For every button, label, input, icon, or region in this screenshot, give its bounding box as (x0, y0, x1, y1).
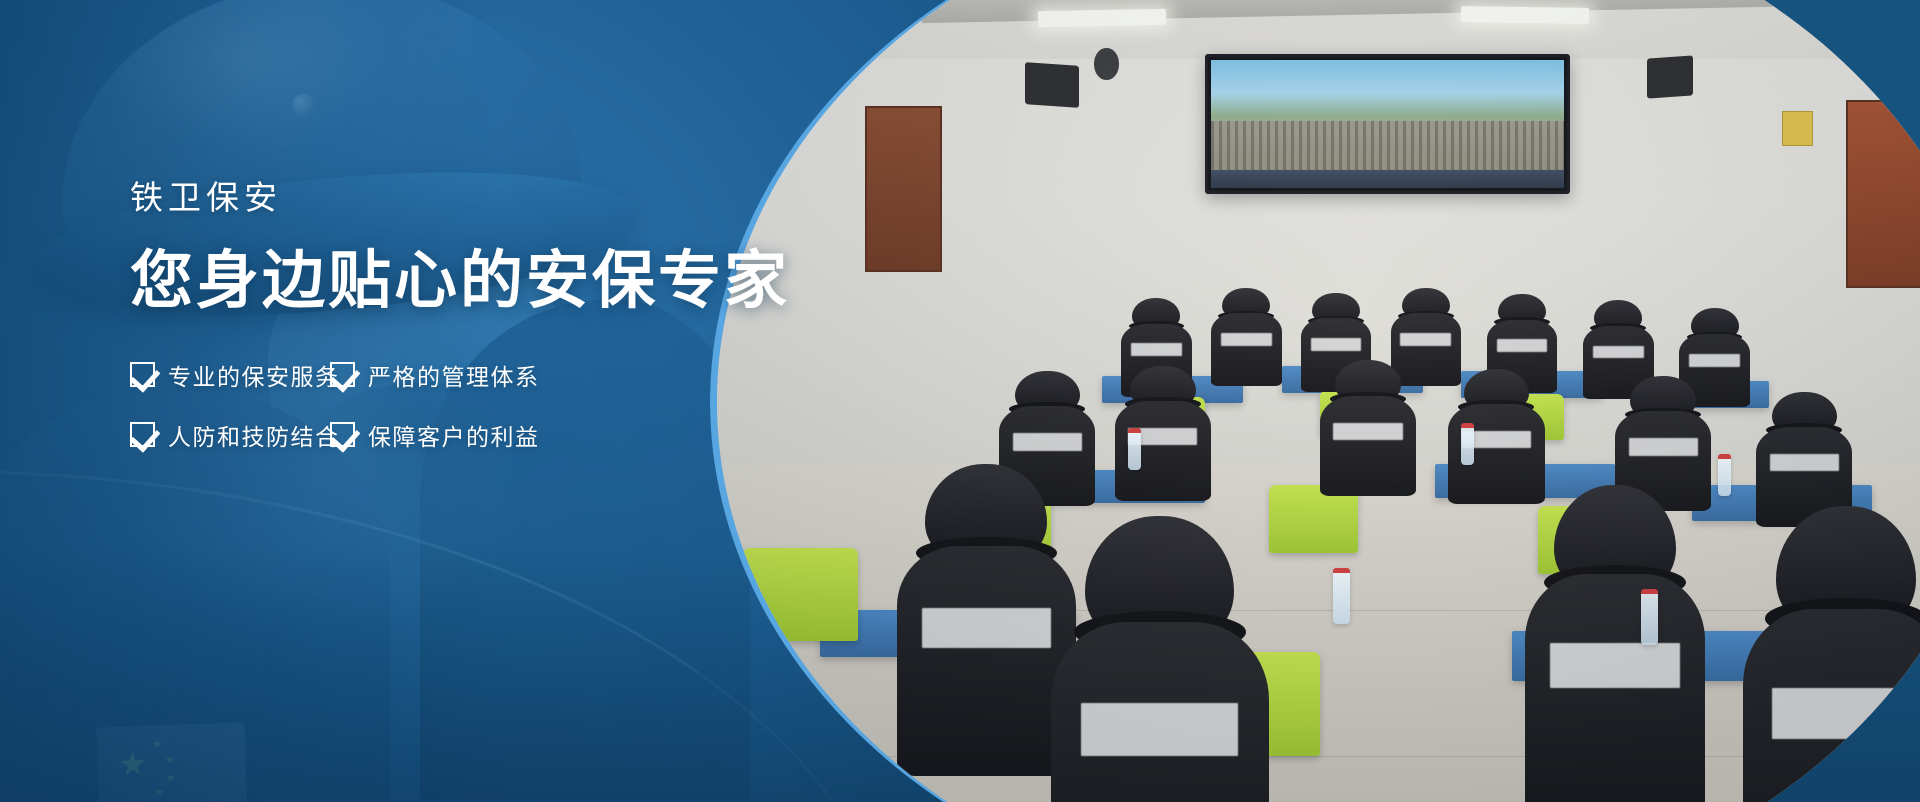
checkbox-checked-icon (330, 422, 355, 447)
hero-copy: 铁卫保安 您身边贴心的安保专家 专业的保安服务 严格的管理体系 人防和技防结合 (130, 178, 770, 478)
feature-row: 专业的保安服务 严格的管理体系 (130, 358, 770, 392)
page-title: 您身边贴心的安保专家 (130, 244, 770, 318)
photo-scene (717, 0, 1920, 802)
feature-label: 人防和技防结合 (168, 418, 340, 452)
checkbox-checked-icon (130, 422, 155, 447)
feature-label: 严格的管理体系 (368, 358, 540, 392)
photo-tone (717, 0, 1920, 802)
checkbox-checked-icon (130, 362, 155, 387)
hero-banner: 铁卫保安 您身边贴心的安保专家 专业的保安服务 严格的管理体系 人防和技防结合 (0, 0, 1920, 802)
feature-label: 保障客户的利益 (368, 418, 540, 452)
checkbox-checked-icon (330, 362, 355, 387)
feature-item: 专业的保安服务 (130, 358, 330, 392)
feature-list: 专业的保安服务 严格的管理体系 人防和技防结合 保障客户的利益 (130, 358, 770, 452)
training-photo (710, 0, 1920, 802)
feature-item: 严格的管理体系 (330, 358, 540, 392)
feature-item: 保障客户的利益 (330, 418, 540, 452)
brand-eyebrow: 铁卫保安 (130, 178, 770, 218)
feature-label: 专业的保安服务 (168, 358, 340, 392)
feature-row: 人防和技防结合 保障客户的利益 (130, 418, 770, 452)
feature-item: 人防和技防结合 (130, 418, 330, 452)
